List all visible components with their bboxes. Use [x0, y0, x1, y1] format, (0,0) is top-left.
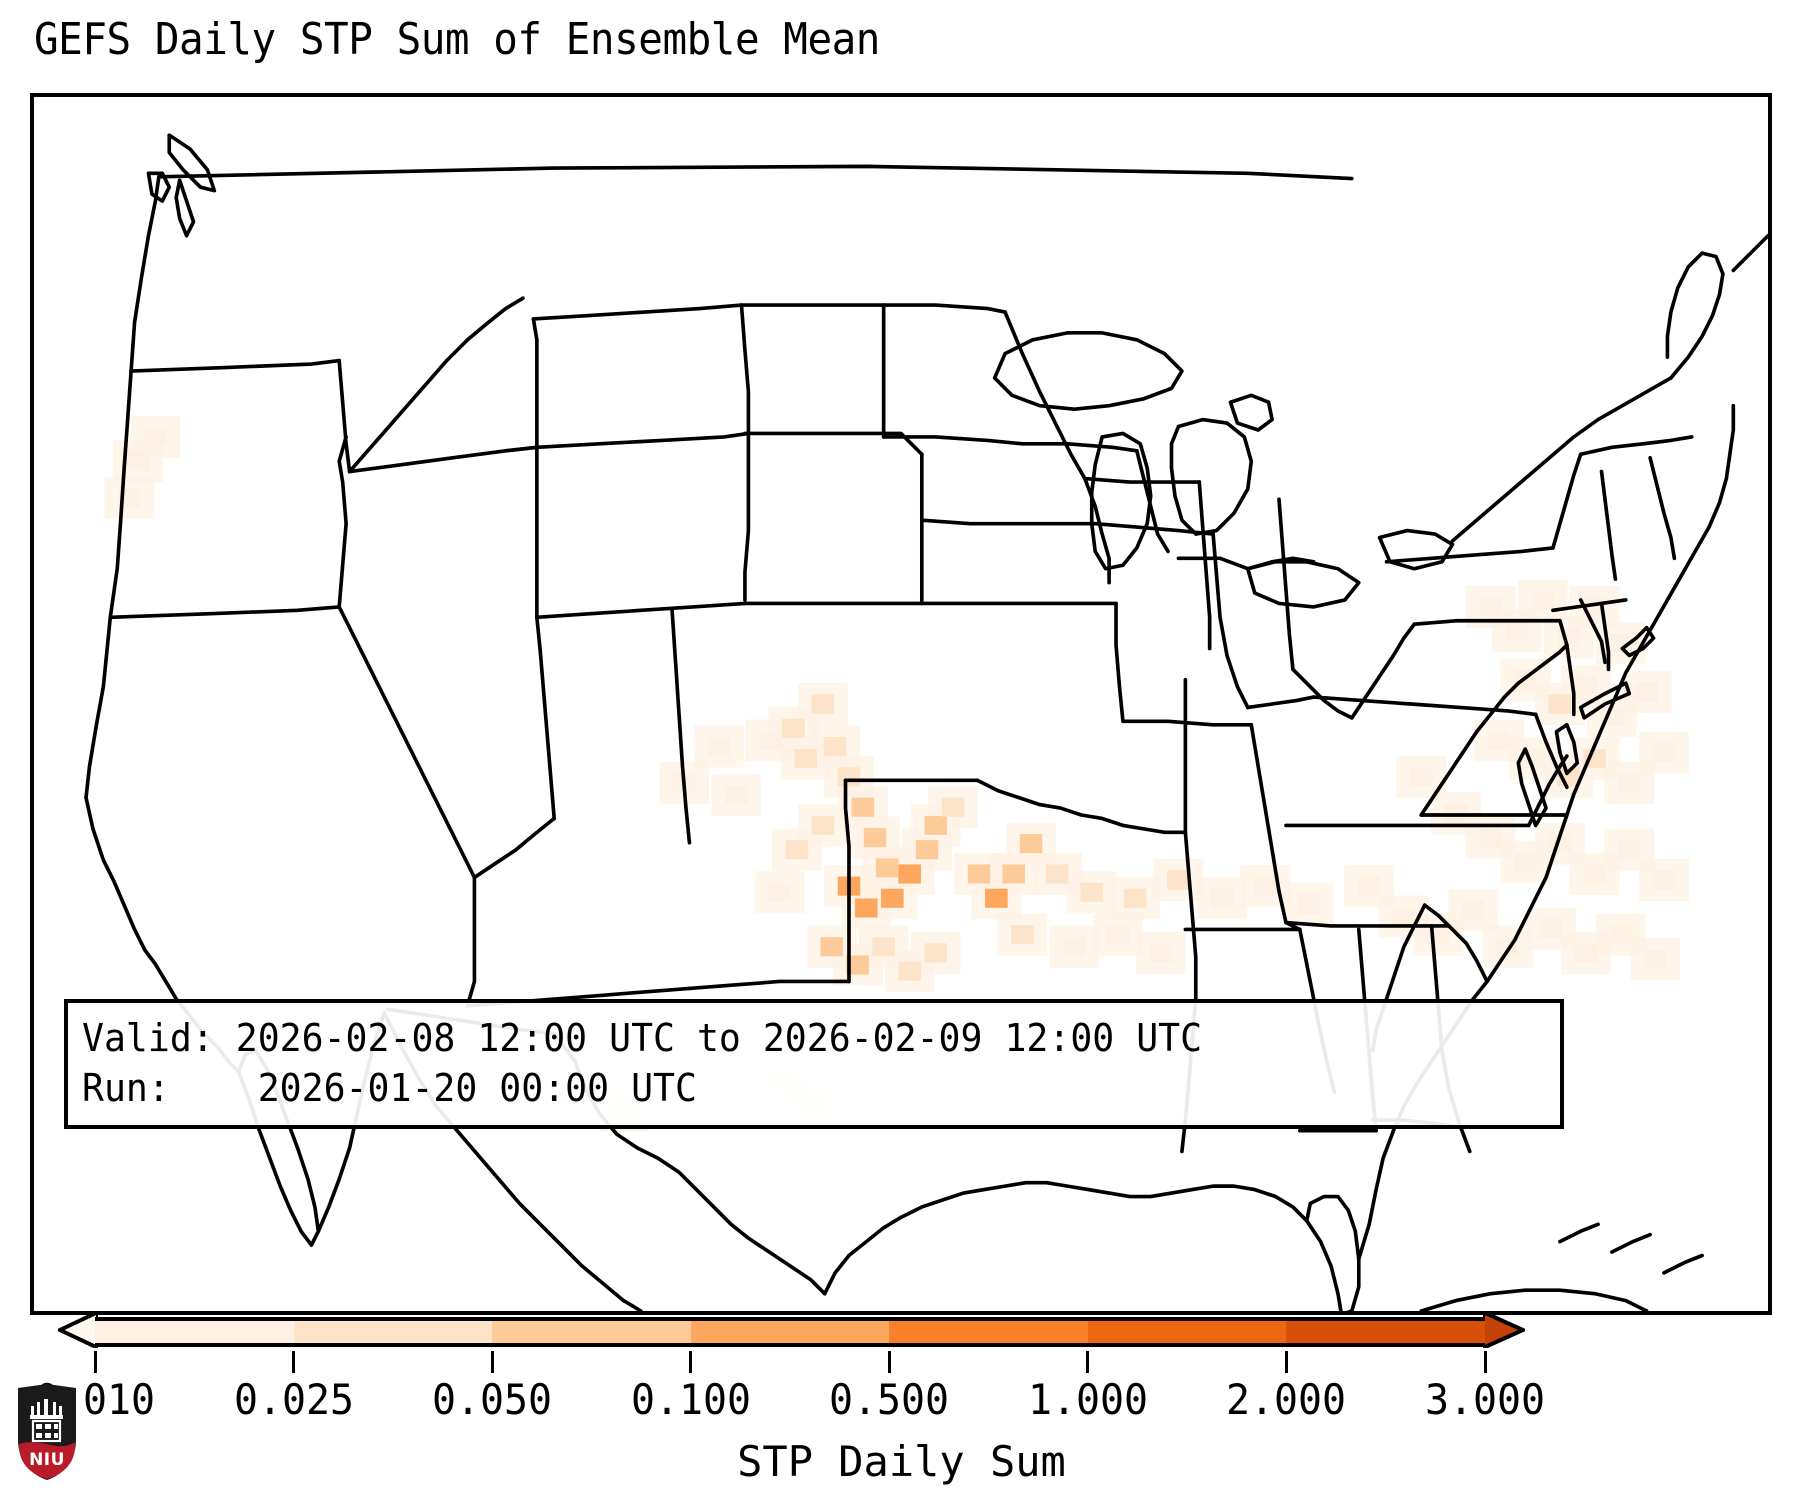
- georgian-bay: [1230, 395, 1272, 430]
- colorbar-tick-label-5: 1.000: [1028, 1375, 1148, 1424]
- colorbar-axis-label: STP Daily Sum: [0, 1437, 1803, 1486]
- id-mt-border: [350, 298, 523, 471]
- maine-coast: [1709, 406, 1733, 527]
- bahamas-2: [1612, 1235, 1650, 1252]
- in-oh-border: [1279, 499, 1293, 669]
- valid-run-infobox: Valid: 2026-02-08 12:00 UTC to 2026-02-0…: [64, 999, 1564, 1129]
- colorbar-tick-0: [94, 1351, 97, 1373]
- nm-tx-border: [846, 780, 849, 981]
- wv-va-border: [1421, 683, 1518, 815]
- figure-title: GEFS Daily STP Sum of Ensemble Mean: [34, 14, 880, 65]
- canada-maritime-coast: [1667, 253, 1722, 378]
- ut-az-nm-border: [537, 603, 745, 617]
- weather-map-figure: GEFS Daily STP Sum of Ensemble Mean: [0, 0, 1803, 1500]
- il-ky-border: [1248, 697, 1314, 707]
- colorbar-tick-3: [689, 1351, 692, 1373]
- niu-logo: NIU: [14, 1382, 80, 1482]
- northeast-coast: [1574, 527, 1709, 794]
- pa-md-border: [1414, 621, 1560, 624]
- bahamas-3: [1664, 1256, 1702, 1273]
- colorbar-tick-label-1: 0.025: [234, 1375, 354, 1424]
- ky-va-border: [1536, 714, 1567, 787]
- colorbar-tick-6: [1285, 1351, 1288, 1373]
- pacific-coast: [86, 177, 159, 798]
- colorbar-tick-1: [292, 1351, 295, 1373]
- florida-peninsula: [1307, 1197, 1359, 1311]
- cape-cod: [1622, 628, 1653, 656]
- nh-me-border: [1650, 458, 1674, 559]
- newfoundland: [1733, 236, 1768, 271]
- colorbar-tick-2: [491, 1351, 494, 1373]
- az-nm-border: [672, 610, 689, 842]
- nd-mn-border: [884, 305, 1005, 312]
- colorbar-tick-label-4: 0.500: [829, 1375, 949, 1424]
- gulf-coast: [825, 1183, 1307, 1294]
- ne-ks-border: [922, 520, 1095, 523]
- colorbar-tick-5: [1086, 1351, 1089, 1373]
- niu-wordmark: NIU: [29, 1450, 65, 1470]
- colorbar-tick-label-2: 0.050: [432, 1375, 552, 1424]
- colorbar-track: [95, 1317, 1485, 1347]
- or-ca-border: [110, 607, 339, 617]
- mt-wy-border: [533, 305, 741, 319]
- puget-sound: [176, 180, 193, 235]
- mn-ia-border: [1022, 444, 1136, 451]
- lake-huron: [1172, 420, 1252, 534]
- ny-vt-nh-border: [1553, 454, 1581, 548]
- ne-north-border: [1581, 437, 1692, 454]
- colorbar: 0.0100.0250.0500.1000.5001.0002.0003.000…: [0, 1313, 1803, 1500]
- wa-or-border: [131, 361, 339, 371]
- cuba: [1421, 1290, 1646, 1311]
- colorbar-segment-2: [492, 1321, 691, 1343]
- ny-ma-ct-border: [1553, 600, 1626, 610]
- ca-nv-border: [339, 607, 474, 878]
- colorbar-tick-label-7: 3.000: [1425, 1375, 1545, 1424]
- colorbar-segment-5: [1088, 1321, 1287, 1343]
- us-canada-border: [159, 166, 1352, 178]
- colorbar-segment-3: [691, 1321, 890, 1343]
- run-line: Run: 2026-01-20 00:00 UTC: [82, 1063, 1487, 1113]
- colorbar-tick-label-6: 2.000: [1226, 1375, 1346, 1424]
- sd-ne-border: [884, 437, 1023, 444]
- ca-az-border: [468, 877, 475, 1005]
- valid-line: Valid: 2026-02-08 12:00 UTC to 2026-02-0…: [82, 1013, 1487, 1063]
- pa-ny-border: [1387, 548, 1553, 562]
- map-panel: Valid: 2026-02-08 12:00 UTC to 2026-02-0…: [30, 93, 1772, 1315]
- lake-michigan: [1092, 433, 1151, 568]
- colorbar-tick-4: [888, 1351, 891, 1373]
- colorbar-segment-6: [1286, 1321, 1485, 1343]
- colorbar-tick-label-3: 0.100: [631, 1375, 751, 1424]
- il-in-border: [1199, 482, 1209, 648]
- ok-tx-red-river: [977, 780, 1185, 832]
- in-ky-border: [1293, 669, 1352, 718]
- or-id-border: [339, 437, 346, 607]
- id-wy-border: [506, 319, 537, 451]
- bahamas-1: [1560, 1224, 1598, 1241]
- colorbar-segment-4: [889, 1321, 1088, 1343]
- wy-east-border: [741, 305, 748, 433]
- wy-ut-co-border: [537, 433, 749, 447]
- md-de-va-border: [1560, 621, 1574, 715]
- nm-south-border: [689, 981, 849, 988]
- colorbar-tick-7: [1484, 1351, 1487, 1373]
- colorbar-segment-0: [95, 1321, 294, 1343]
- vt-nh-border: [1602, 472, 1616, 580]
- lake-superior: [995, 333, 1182, 409]
- ut-co-border: [745, 433, 748, 599]
- ms-tn-al-border: [1286, 923, 1449, 926]
- vancouver-island: [169, 135, 214, 190]
- long-island: [1581, 683, 1630, 718]
- mi-in-oh-line: [1178, 558, 1247, 568]
- nv-az-ca-border: [474, 818, 554, 877]
- lake-erie: [1248, 562, 1359, 607]
- nv-ut-border: [537, 617, 554, 818]
- colorbar-under-arrow: [58, 1312, 98, 1348]
- colorbar-segment-1: [294, 1321, 493, 1343]
- colorbar-over-arrow: [1483, 1312, 1525, 1348]
- va-md-potomac: [1518, 645, 1567, 683]
- id-nv-ut-border: [350, 447, 537, 617]
